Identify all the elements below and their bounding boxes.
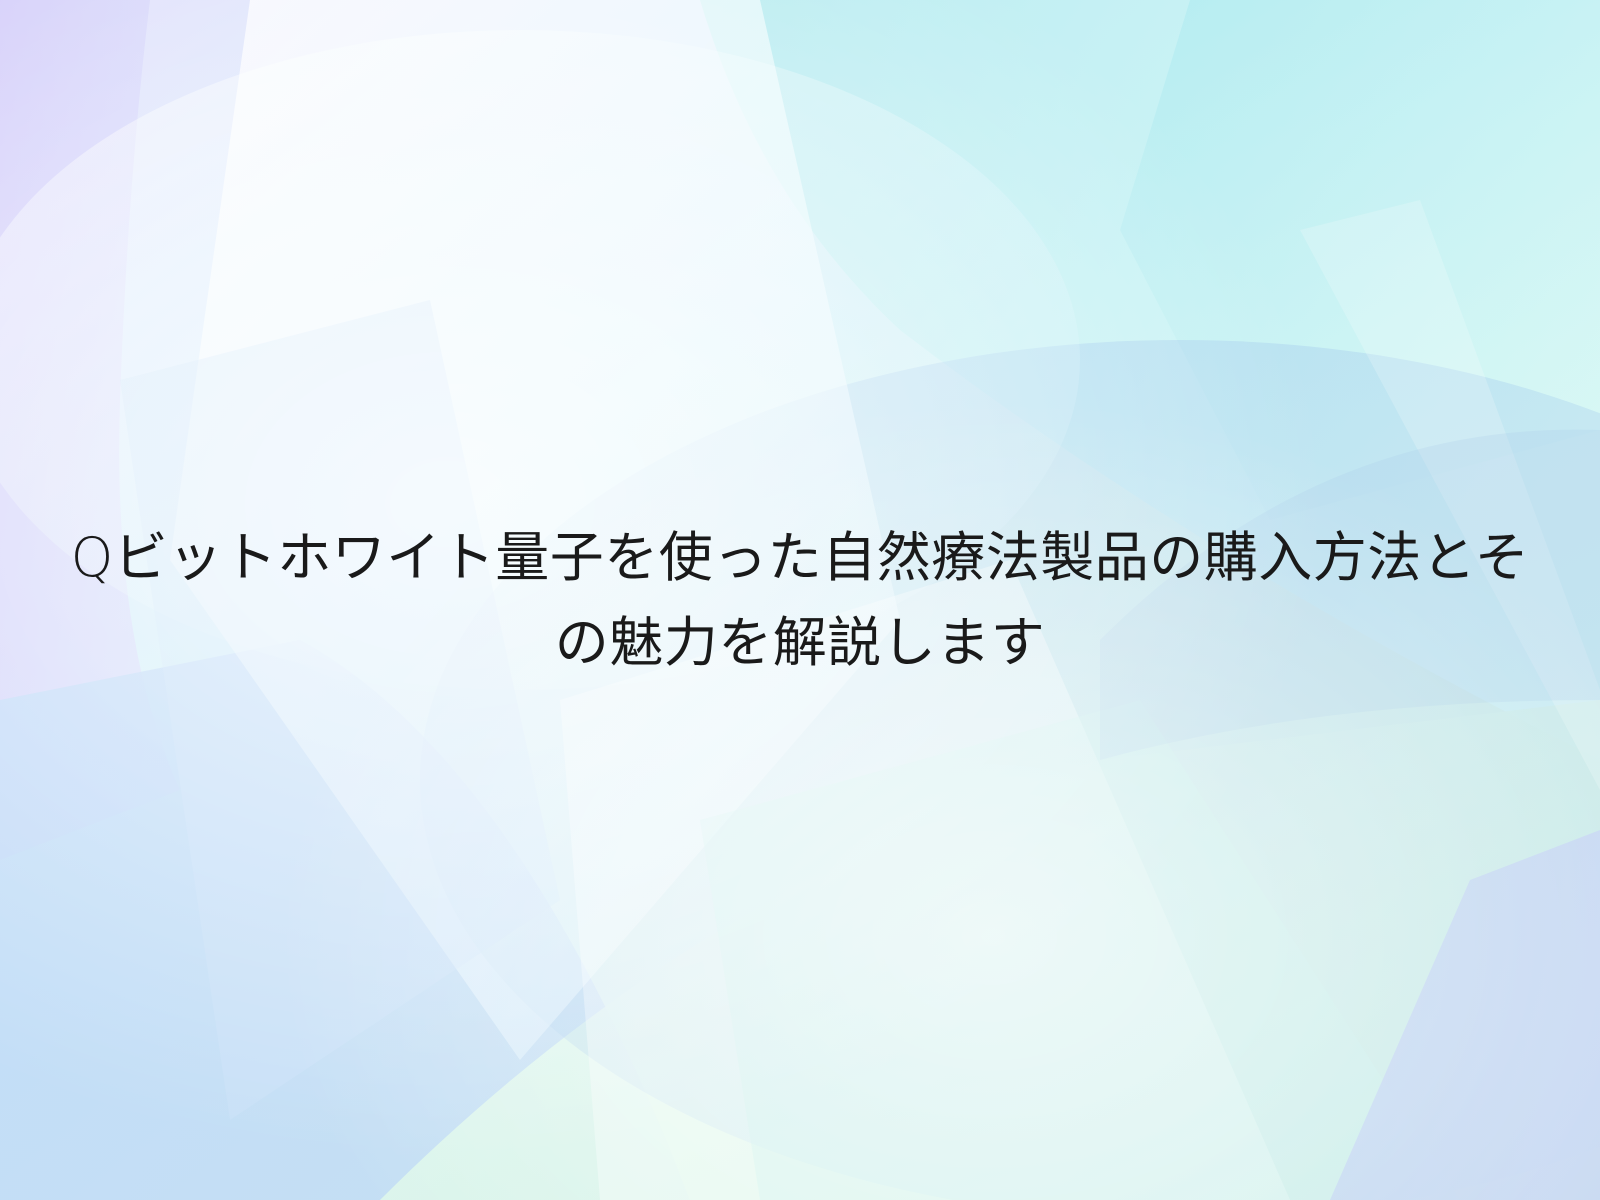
abstract-background <box>0 0 1600 1200</box>
glow-lower-center <box>0 0 1600 1200</box>
presentation-slide: Qビットホワイト量子を使った自然療法製品の購入方法とその魅力を解説します <box>0 0 1600 1200</box>
